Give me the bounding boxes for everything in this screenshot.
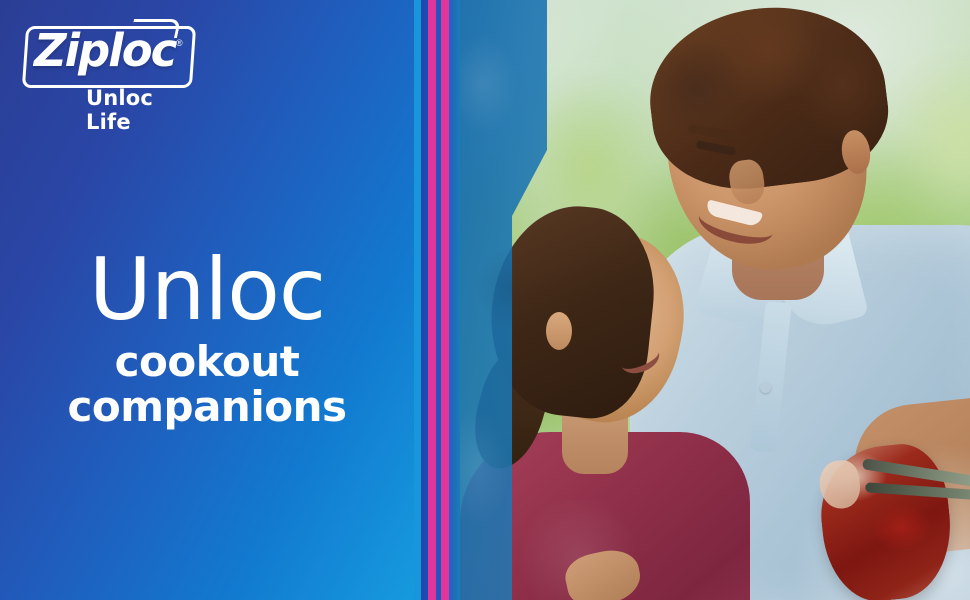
headline-line-3: companions: [0, 385, 414, 430]
headline-line-1: Unloc: [0, 248, 414, 332]
seal-stripe-cyan: [414, 0, 421, 600]
ziploc-logo: Ziploc ® Unloc Life: [24, 26, 196, 114]
registered-trademark-icon: ®: [176, 38, 183, 48]
seal-stripe-blue: [421, 0, 428, 600]
seal-stripe-magenta: [428, 0, 436, 600]
seal-stripe-magenta: [441, 0, 449, 600]
steak-fat-cap: [817, 459, 862, 511]
headline-block: Unloc cookout companions: [0, 248, 414, 430]
ziploc-promo-banner: Ziploc ® Unloc Life Unloc cookout compan…: [0, 0, 970, 600]
ziploc-seal-stripes: [414, 0, 460, 600]
logo-wordmark: Ziploc: [34, 24, 175, 77]
girl-ear: [546, 312, 572, 350]
man-shirt-button: [760, 382, 771, 393]
seal-stripe-edge: [453, 0, 460, 600]
logo-tagline: Unloc Life: [86, 86, 196, 134]
headline-line-2: cookout: [0, 340, 414, 385]
